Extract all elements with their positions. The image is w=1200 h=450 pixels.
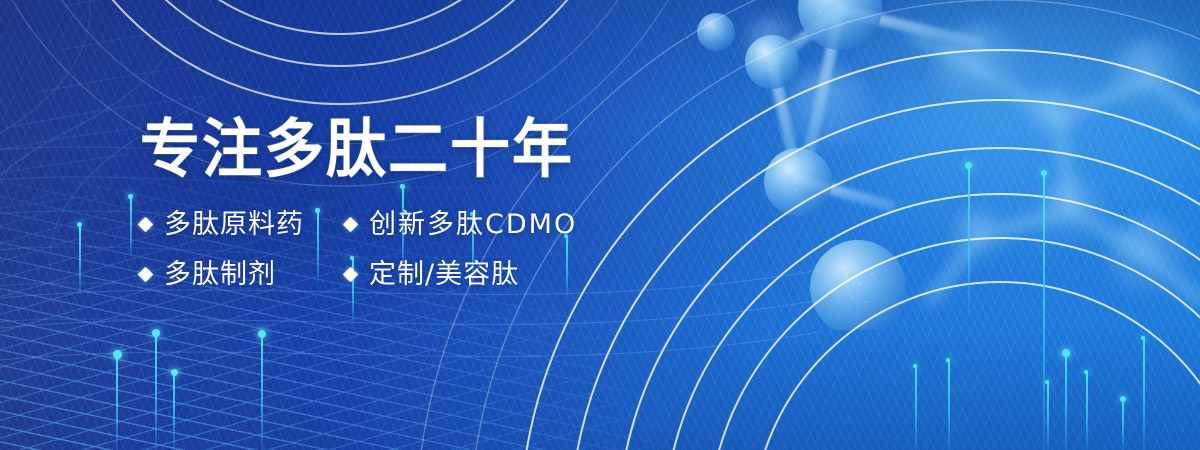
feature-label: 多肽制剂 [164, 258, 276, 292]
feature-list: 多肽原料药 创新多肽CDMO 多肽制剂 定制/美容肽 [140, 208, 700, 292]
feature-item-api[interactable]: 多肽原料药 [140, 208, 345, 242]
feature-item-custom[interactable]: 定制/美容肽 [345, 258, 700, 292]
feature-item-formulation[interactable]: 多肽制剂 [140, 258, 345, 292]
diamond-bullet-icon [138, 267, 154, 283]
diamond-bullet-icon [343, 267, 359, 283]
banner-content: 专注多肽二十年 多肽原料药 创新多肽CDMO 多肽制剂 定制/美容肽 [140, 118, 700, 292]
diamond-bullet-icon [138, 217, 154, 233]
feature-label: 创新多肽CDMO [369, 208, 577, 242]
feature-item-cdmo[interactable]: 创新多肽CDMO [345, 208, 700, 242]
molecule-icon [680, 0, 1200, 330]
promo-banner: 专注多肽二十年 多肽原料药 创新多肽CDMO 多肽制剂 定制/美容肽 [0, 0, 1200, 450]
feature-label: 定制/美容肽 [369, 258, 519, 292]
diamond-bullet-icon [343, 217, 359, 233]
page-title: 专注多肽二十年 [140, 118, 700, 182]
feature-label: 多肽原料药 [164, 208, 304, 242]
